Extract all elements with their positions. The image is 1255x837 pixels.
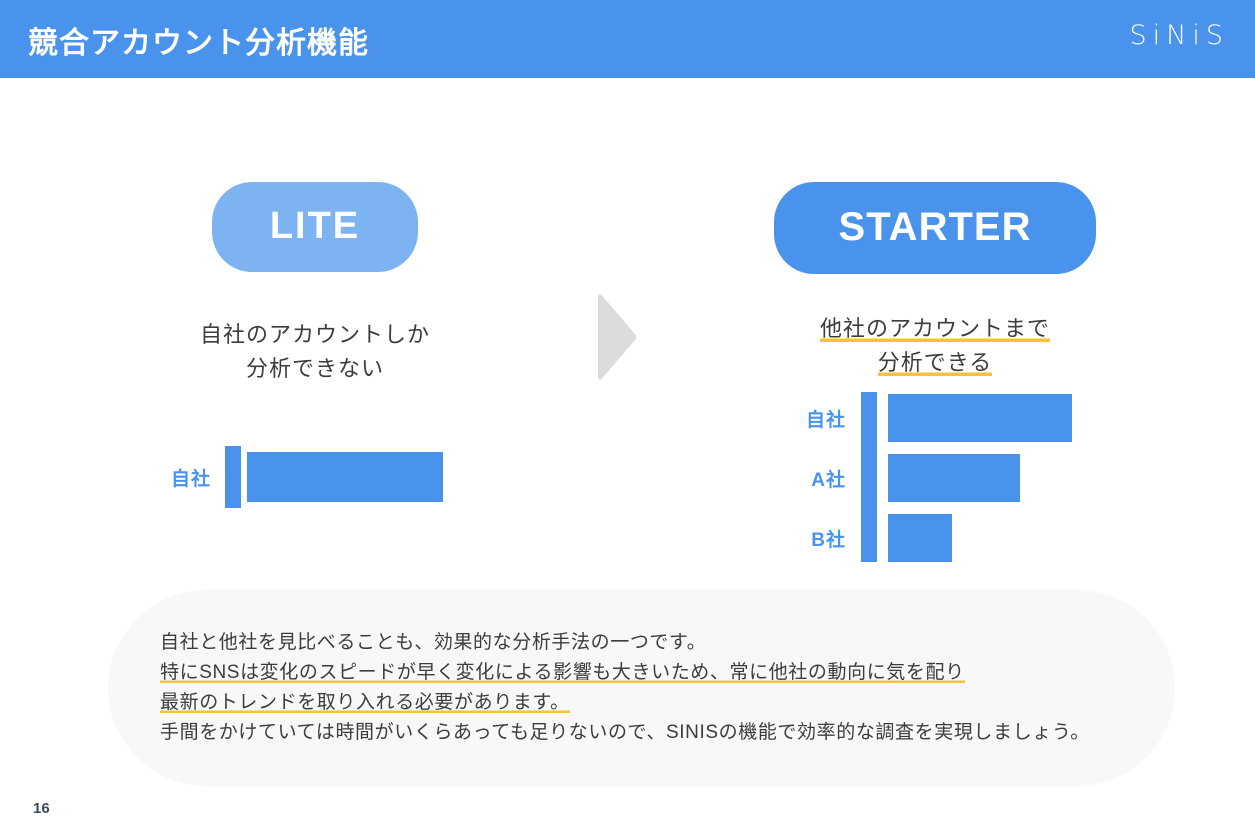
chart-starter-row: 自社 <box>798 388 1072 448</box>
chart-starter-row: B社 <box>798 508 1072 568</box>
chart-lite-row: 自社 <box>155 446 443 508</box>
badge-lite[interactable]: LITE <box>212 182 418 272</box>
chart-starter-label-0: 自社 <box>798 405 846 432</box>
page-title: 競合アカウント分析機能 <box>28 18 369 62</box>
plan-column-lite: LITE 自社のアカウントしか 分析できない <box>60 100 570 386</box>
note-line-2: 最新のトレンドを取り入れる必要があります。 <box>160 688 1090 718</box>
badge-starter[interactable]: STARTER <box>774 182 1096 274</box>
plan-description-starter: 他社のアカウントまで 分析できる <box>680 312 1190 380</box>
note-text: 自社と他社を見比べることも、効果的な分析手法の一つです。 特にSNSは変化のスピ… <box>160 628 1090 748</box>
chart-starter-bar-0 <box>888 394 1072 442</box>
note-box: 自社と他社を見比べることも、効果的な分析手法の一つです。 特にSNSは変化のスピ… <box>108 590 1175 786</box>
plan-description-lite-line2: 分析できない <box>60 352 570 386</box>
chart-lite-label-0: 自社 <box>155 464 211 491</box>
page-header: 競合アカウント分析機能 SiNiS <box>0 0 1255 78</box>
plan-column-starter: STARTER 他社のアカウントまで 分析できる <box>680 100 1190 380</box>
sinis-logo: SiNiS <box>1130 20 1229 51</box>
note-line-3: 手間をかけていては時間がいくらあっても足りないので、SINISの機能で効率的な調… <box>160 718 1090 748</box>
note-line-0: 自社と他社を見比べることも、効果的な分析手法の一つです。 <box>160 628 1090 658</box>
page-number: 16 <box>33 800 50 817</box>
plan-description-lite-line1: 自社のアカウントしか <box>60 318 570 352</box>
plan-description-starter-line1: 他社のアカウントまで <box>680 312 1190 346</box>
note-line-1: 特にSNSは変化のスピードが早く変化による影響も大きいため、常に他社の動向に気を… <box>160 658 1090 688</box>
plan-description-lite: 自社のアカウントしか 分析できない <box>60 318 570 386</box>
chart-starter-label-1: A社 <box>798 465 846 492</box>
chart-lite-bar-0 <box>247 452 443 502</box>
chart-starter-label-2: B社 <box>798 525 846 552</box>
chart-starter: 自社 A社 B社 <box>798 388 1072 568</box>
chart-starter-row: A社 <box>798 448 1072 508</box>
chart-lite: 自社 <box>155 446 443 508</box>
chart-starter-bar-2 <box>888 514 952 562</box>
chart-starter-bar-1 <box>888 454 1020 502</box>
plan-description-starter-line2: 分析できる <box>680 346 1190 380</box>
arrow-right-icon <box>594 291 638 383</box>
